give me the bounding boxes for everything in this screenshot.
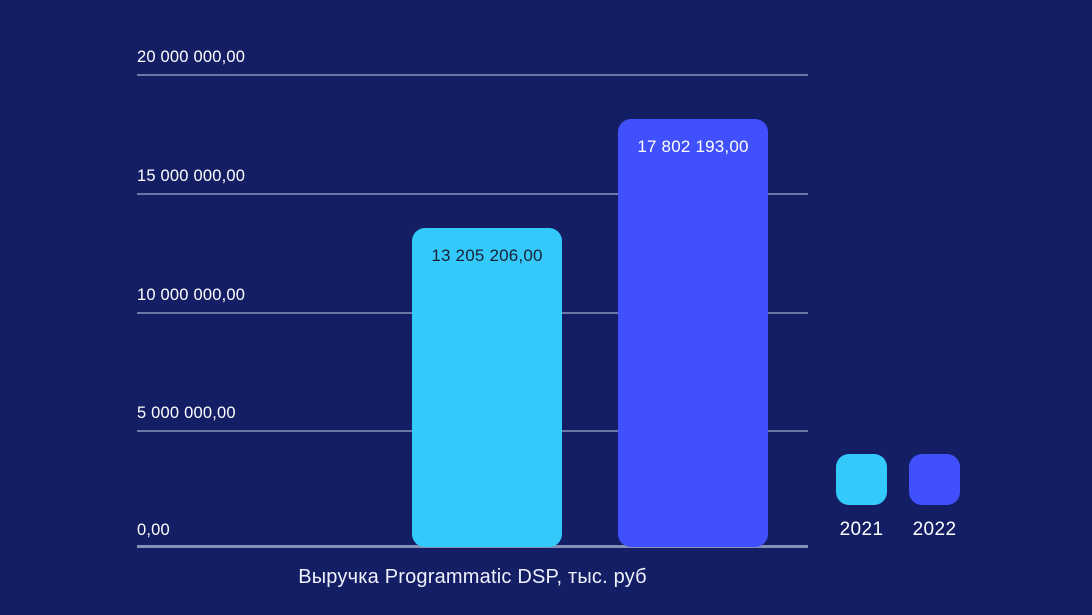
bar-2022[interactable]: 17 802 193,00	[618, 119, 768, 547]
legend-label-2022: 2022	[913, 519, 957, 541]
bar-2021[interactable]: 13 205 206,00	[412, 228, 562, 547]
plot-area: 13 205 206,00 17 802 193,00	[137, 74, 808, 547]
legend-swatch-2022-icon	[909, 454, 960, 505]
gridline-20m	[137, 74, 808, 76]
legend-item-2022[interactable]: 2022	[909, 454, 960, 541]
legend-swatch-2021-icon	[836, 454, 887, 505]
bar-value-label-2022: 17 802 193,00	[618, 137, 768, 157]
legend-item-2021[interactable]: 2021	[836, 454, 887, 541]
chart-title: Выручка Programmatic DSP, тыс. руб	[0, 566, 945, 589]
legend-label-2021: 2021	[840, 519, 884, 541]
y-axis-tick-label-20m: 20 000 000,00	[137, 48, 245, 74]
bar-chart: 20 000 000,00 15 000 000,00 10 000 000,0…	[0, 0, 1092, 615]
bar-value-label-2021: 13 205 206,00	[412, 246, 562, 266]
legend: 2021 2022	[836, 454, 960, 541]
